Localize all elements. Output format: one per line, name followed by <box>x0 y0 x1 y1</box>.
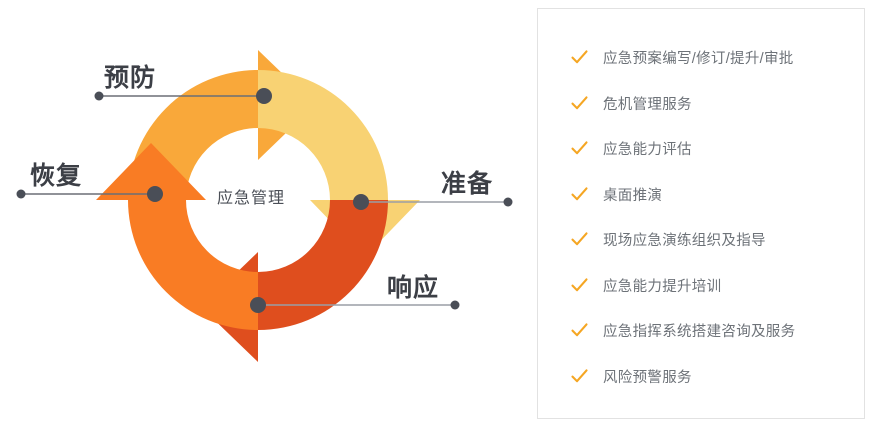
list-item[interactable]: 桌面推演 <box>538 172 864 218</box>
list-item[interactable]: 风险预警服务 <box>538 354 864 400</box>
list-item-label: 风险预警服务 <box>603 366 692 387</box>
list-item-label: 应急能力提升培训 <box>603 275 721 296</box>
emergency-management-cycle-diagram: 预防 恢复 准备 响应 应急管理 <box>0 0 530 429</box>
list-item[interactable]: 危机管理服务 <box>538 81 864 127</box>
check-icon <box>571 140 588 157</box>
list-item-label: 桌面推演 <box>603 184 662 205</box>
cycle-label-response: 响应 <box>387 268 439 304</box>
list-item[interactable]: 应急能力提升培训 <box>538 263 864 309</box>
list-item-label: 应急预案编写/修订/提升/审批 <box>603 47 794 68</box>
list-item[interactable]: 现场应急演练组织及指导 <box>538 217 864 263</box>
cycle-label-recovery: 恢复 <box>30 156 82 192</box>
check-icon <box>571 322 588 339</box>
service-list-panel: 应急预案编写/修订/提升/审批 危机管理服务 应急能力评估 桌面推演 现场应急演… <box>537 8 865 419</box>
check-icon <box>571 368 588 385</box>
cycle-center-label: 应急管理 <box>217 184 285 208</box>
list-item-label: 应急指挥系统搭建咨询及服务 <box>603 320 795 341</box>
cycle-label-prevention: 预防 <box>104 58 156 94</box>
list-item[interactable]: 应急指挥系统搭建咨询及服务 <box>538 308 864 354</box>
check-icon <box>571 49 588 66</box>
list-item-label: 应急能力评估 <box>603 138 692 159</box>
check-icon <box>571 277 588 294</box>
service-list: 应急预案编写/修订/提升/审批 危机管理服务 应急能力评估 桌面推演 现场应急演… <box>538 9 864 399</box>
check-icon <box>571 186 588 203</box>
cycle-label-preparation: 准备 <box>441 164 493 200</box>
list-item-label: 现场应急演练组织及指导 <box>603 229 766 250</box>
arrow-recovery <box>96 143 258 330</box>
cycle-arrows-graphic <box>0 0 530 429</box>
check-icon <box>571 95 588 112</box>
list-item[interactable]: 应急能力评估 <box>538 126 864 172</box>
check-icon <box>571 231 588 248</box>
list-item-label: 危机管理服务 <box>603 93 692 114</box>
list-item[interactable]: 应急预案编写/修订/提升/审批 <box>538 35 864 81</box>
